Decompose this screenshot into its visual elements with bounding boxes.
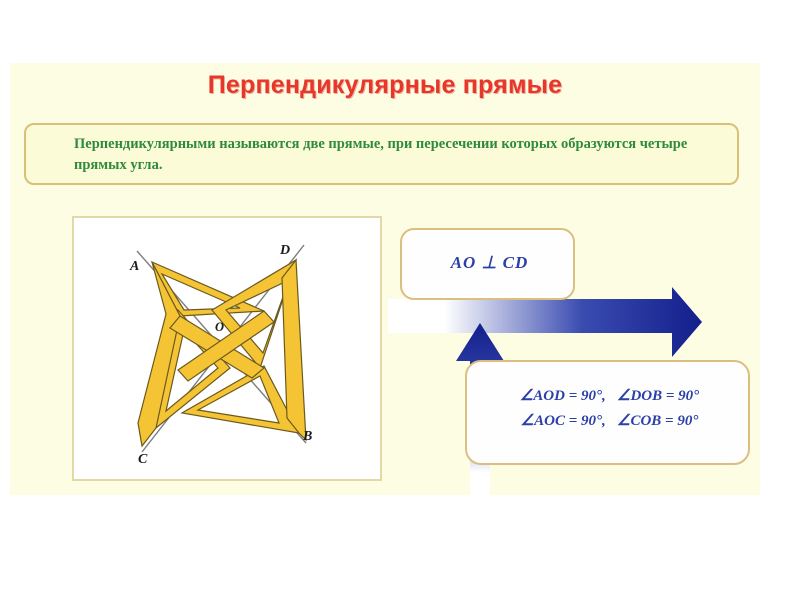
perpendicular-statement-text: AO ⊥ CD bbox=[402, 253, 577, 273]
band-triangle-bottom-right bbox=[182, 366, 299, 433]
figure-label-B: B bbox=[302, 429, 312, 444]
figure-label-O: O bbox=[215, 320, 224, 334]
slide-canvas: Перпендикулярные прямые Перпендикулярным… bbox=[10, 63, 760, 495]
perpendicular-lines-figure: A D O C B bbox=[74, 218, 380, 479]
definition-text: Перпендикулярными называются две прямые,… bbox=[74, 134, 724, 176]
figure-label-C: C bbox=[138, 452, 148, 467]
angles-statement-text: ∠AOD = 90°, ∠DOB = 90° ∠AOC = 90°, ∠COB … bbox=[467, 384, 752, 434]
figure-label-A: A bbox=[129, 259, 139, 274]
figure-label-D: D bbox=[279, 243, 290, 258]
figure-panel: A D O C B bbox=[72, 216, 382, 481]
yellow-band-group bbox=[138, 260, 306, 446]
angles-line-2: ∠AOC = 90°, ∠COB = 90° bbox=[521, 413, 699, 429]
angles-line-1: ∠AOD = 90°, ∠DOB = 90° bbox=[520, 388, 699, 404]
perpendicular-statement-box: AO ⊥ CD bbox=[400, 228, 575, 300]
definition-box: Перпендикулярными называются две прямые,… bbox=[24, 123, 739, 185]
angles-statement-box: ∠AOD = 90°, ∠DOB = 90° ∠AOC = 90°, ∠COB … bbox=[465, 360, 750, 465]
page-title: Перпендикулярные прямые bbox=[10, 71, 760, 100]
